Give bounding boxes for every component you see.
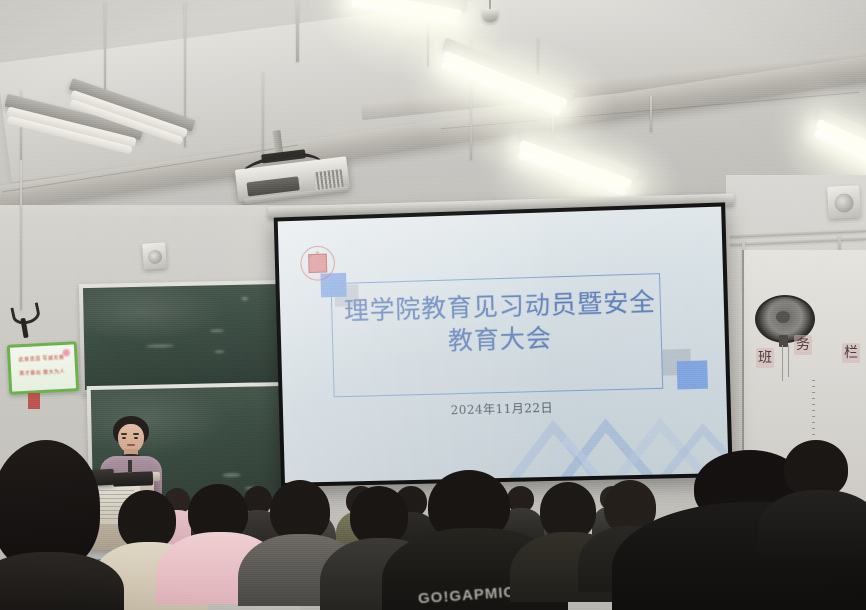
podium-monitor-left	[68, 469, 115, 487]
ceiling-smoke-detector	[482, 8, 498, 22]
fan-pull-cord[interactable]	[788, 345, 789, 377]
slide-title: 理学院教育见习动员暨安全 教育大会	[335, 285, 666, 361]
presenter-eye	[122, 437, 126, 439]
mic-rod	[20, 160, 22, 310]
presenter-brow	[121, 433, 127, 435]
presentation-slide: 理学院教育见习动员暨安全 教育大会 2024年11月22日	[278, 207, 729, 483]
presenter-brow	[133, 433, 139, 435]
chalk-mark	[146, 344, 174, 348]
fan-pull-cord[interactable]	[782, 345, 783, 381]
podium-paper-text	[82, 490, 134, 520]
chalk-mark	[241, 297, 248, 301]
wall-speaker-right	[827, 185, 861, 219]
wall-sign-char-3: 栏	[842, 343, 860, 363]
wall-sign-char-1: 班	[756, 348, 774, 368]
classroom-photo-scene: 此身流泪 写诚无畏 英才辈出 敢大为人 班 务 栏	[0, 0, 866, 610]
whiteboard-right	[742, 250, 866, 500]
slide-title-line-1: 理学院教育见习动员暨安全	[344, 287, 656, 325]
wall-red-card	[28, 393, 40, 409]
wall-poster: 此身流泪 写诚无畏 英才辈出 敢大为人	[7, 341, 80, 395]
hanger-rod	[296, 0, 299, 62]
wall-speaker-left	[142, 242, 167, 270]
wall-sign-char-2: 务	[794, 335, 812, 355]
blackboard-upper-panel	[83, 284, 282, 390]
speaker-cone	[834, 193, 854, 213]
fan-mount	[779, 335, 788, 347]
poster-line-1: 此身流泪 写诚无畏	[14, 353, 68, 366]
hanger-rod	[650, 96, 652, 132]
chalk-mark	[245, 487, 257, 490]
chalk-mark	[222, 473, 240, 477]
wall-ruler	[812, 380, 815, 470]
seal-arcs	[301, 246, 334, 280]
podium-monitor-right	[113, 471, 153, 486]
blackboard-upper-frame	[79, 280, 286, 394]
poster-line-2: 英才辈出 敢大为人	[15, 367, 69, 380]
detector-stem	[489, 0, 491, 9]
projection-screen: 理学院教育见习动员暨安全 教育大会 2024年11月22日	[274, 202, 733, 487]
fan-hub	[776, 311, 790, 323]
chevron-svg	[504, 378, 729, 483]
presenter-eye	[134, 437, 138, 439]
chalk-mark	[210, 329, 224, 332]
presenter-mouth	[127, 444, 135, 446]
speaker-cone	[147, 249, 162, 264]
chalk-mark	[214, 350, 224, 353]
slide-chevron-decoration	[504, 378, 729, 483]
lecture-podium	[70, 478, 154, 550]
hanger-rod	[262, 72, 264, 158]
